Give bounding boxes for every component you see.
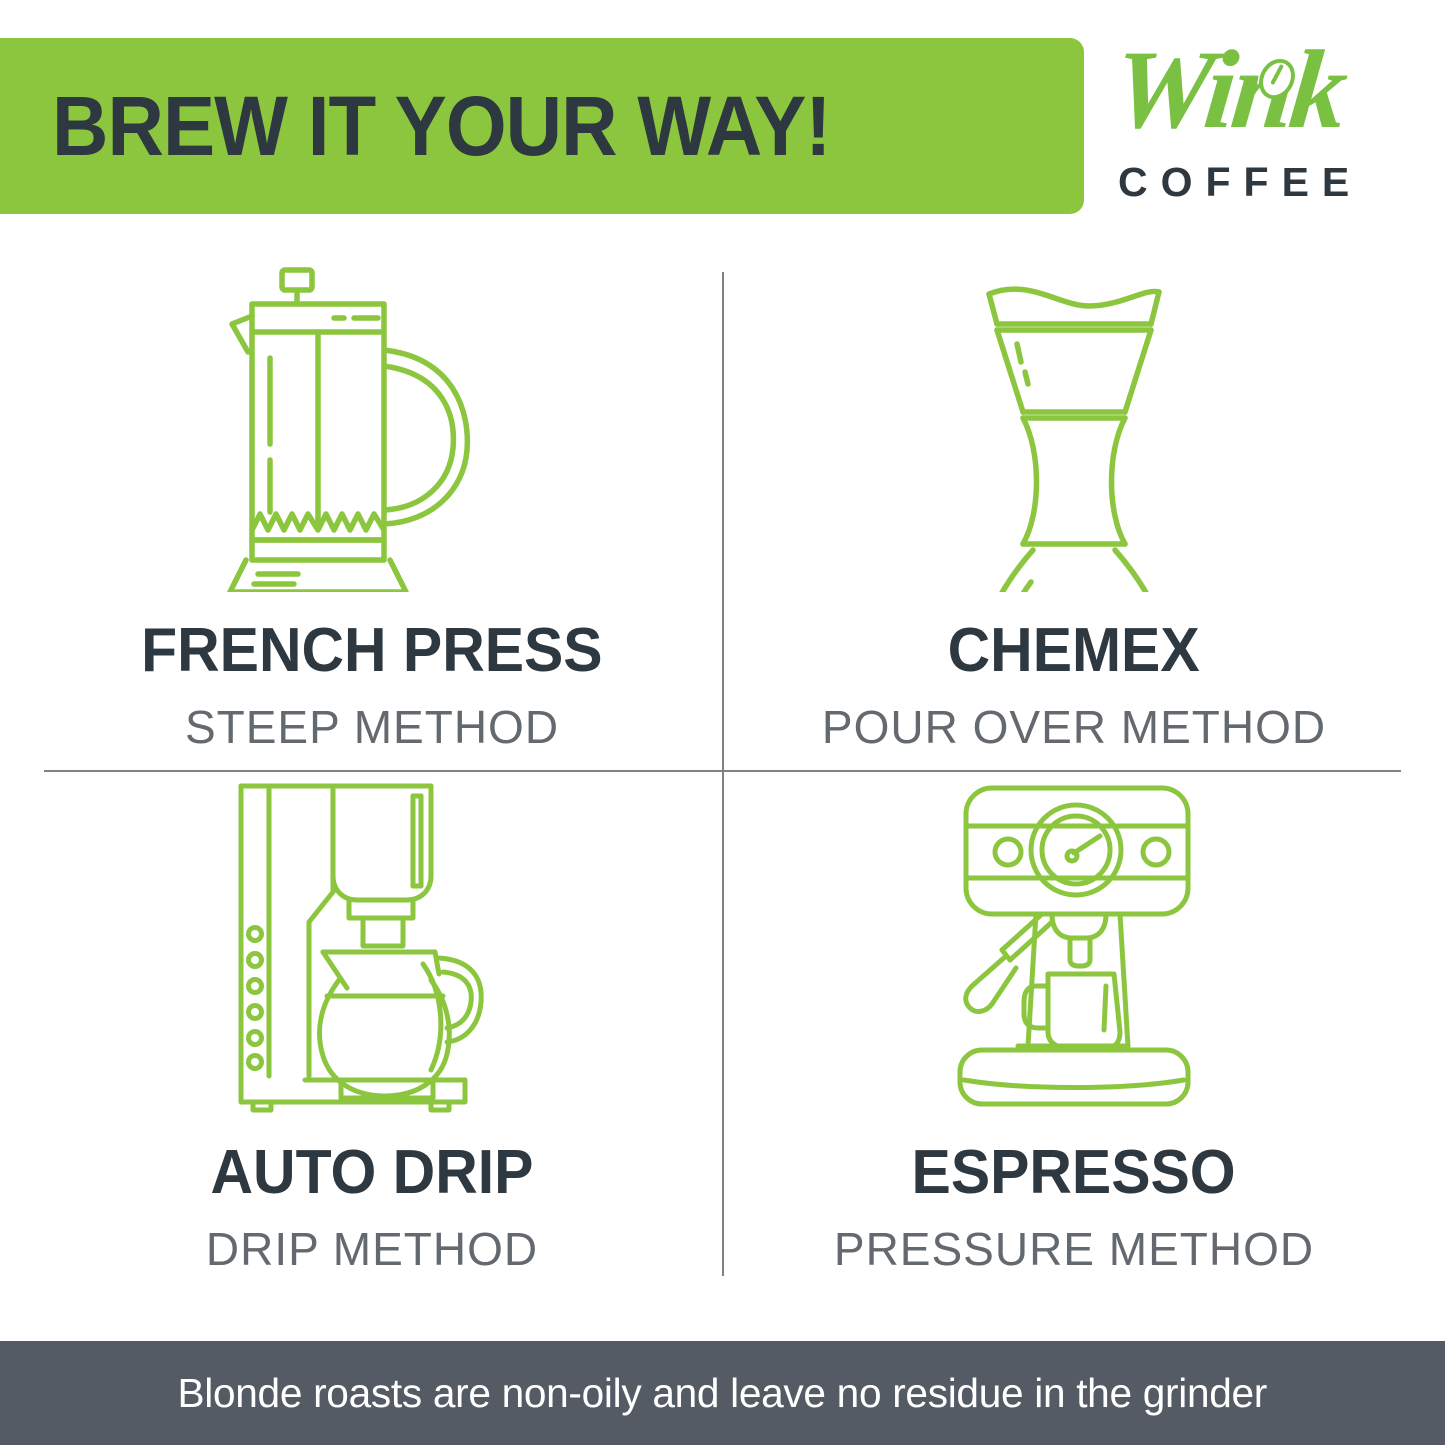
french-press-icon [222, 262, 522, 592]
footer-message: Blonde roasts are non-oily and leave no … [178, 1370, 1267, 1417]
brand-subname: COFFEE [1118, 162, 1362, 203]
footer-bar: Blonde roasts are non-oily and leave no … [0, 1341, 1445, 1445]
method-card-chemex: CHEMEX POUR OVER METHOD [724, 262, 1424, 750]
horizontal-divider [44, 770, 1401, 772]
brand-wordmark: Wink [1108, 40, 1428, 158]
chemex-icon [949, 262, 1199, 592]
method-title: AUTO DRIP [211, 1142, 534, 1204]
page-title: BREW IT YOUR WAY! [52, 84, 830, 168]
method-subtitle: STEEP METHOD [185, 704, 559, 750]
method-title: ESPRESSO [912, 1142, 1236, 1204]
header: BREW IT YOUR WAY! Wink COFFEE [0, 0, 1445, 240]
method-card-auto-drip: AUTO DRIP DRIP METHOD [22, 784, 722, 1272]
method-subtitle: POUR OVER METHOD [822, 704, 1326, 750]
header-banner: BREW IT YOUR WAY! [0, 38, 1084, 214]
method-title: FRENCH PRESS [141, 620, 602, 682]
method-card-french-press: FRENCH PRESS STEEP METHOD [22, 262, 722, 750]
method-subtitle: DRIP METHOD [206, 1226, 538, 1272]
brand-logo: Wink COFFEE [1108, 40, 1428, 220]
brand-name: Wink [1108, 34, 1349, 146]
method-card-espresso: ESPRESSO PRESSURE METHOD [724, 784, 1424, 1272]
method-title: CHEMEX [948, 620, 1200, 682]
auto-drip-coffee-maker-icon [227, 784, 517, 1114]
method-subtitle: PRESSURE METHOD [834, 1226, 1314, 1272]
espresso-machine-icon [924, 784, 1224, 1114]
